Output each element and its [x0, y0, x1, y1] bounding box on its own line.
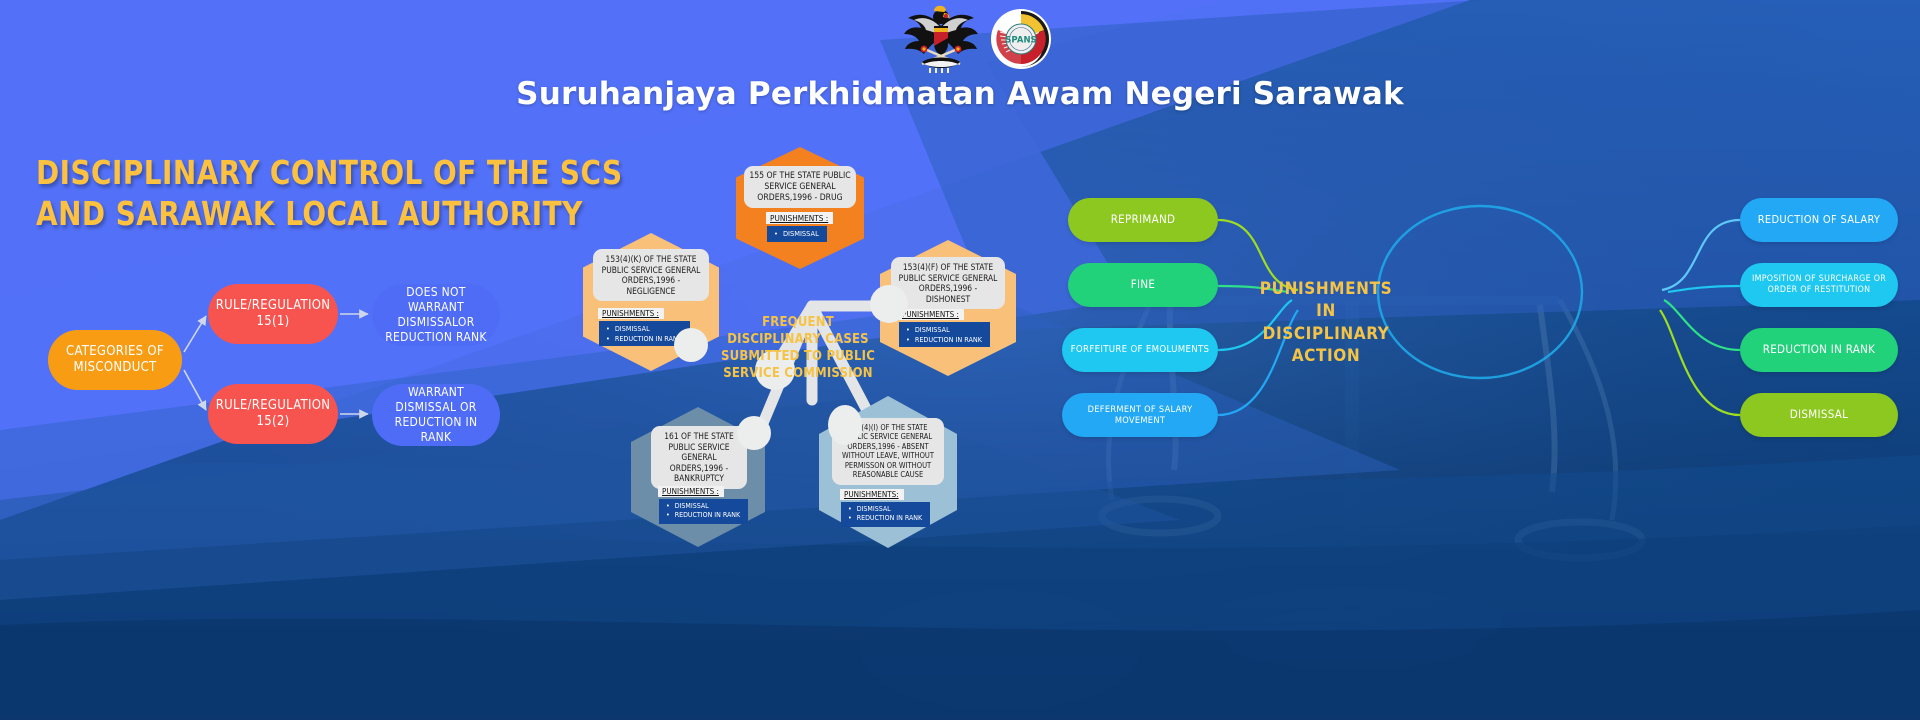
hex-case-title: 161 OF THE STATE PUBLIC SERVICE GENERAL …: [651, 426, 747, 489]
punishments-list: DISMISSALREDUCTION IN RANK: [841, 502, 930, 527]
flow-node-rule-15-1[interactable]: RULE/REGULATION 15(1): [208, 284, 338, 344]
punishment-item: REDUCTION IN RANK: [606, 334, 682, 344]
punishment-pill-forfeiture-of-emoluments[interactable]: FORFEITURE OF EMOLUMENTS: [1062, 328, 1218, 372]
flow-node-label: RULE/REGULATION 15(1): [208, 298, 338, 330]
punishments-list: DISMISSALREDUCTION IN RANK: [659, 499, 748, 524]
section-title-disciplinary-control: DISCIPLINARY CONTROL OF THE SCS AND SARA…: [36, 152, 638, 235]
sarawak-coat-of-arms-icon: [900, 4, 982, 74]
punishments-items: DISMISSALREDUCTION IN RANK: [906, 325, 982, 344]
flow-node-label: DOES NOT WARRANT DISMISSALOR REDUCTION R…: [380, 285, 492, 345]
hex-case-title: 153(4)(F) OF THE STATE PUBLIC SERVICE GE…: [891, 257, 1005, 309]
pill-label: REDUCTION OF SALARY: [1758, 213, 1881, 226]
flow-node-categories-of-misconduct[interactable]: CATEGORIES OF MISCONDUCT: [48, 330, 182, 390]
pill-label: FINE: [1131, 278, 1155, 292]
punishment-pill-reduction-of-salary[interactable]: REDUCTION OF SALARY: [1740, 198, 1898, 242]
header: SPANS Suruhanjaya Perkhidmatan Awam Nege…: [0, 0, 1920, 135]
flow-node-rule-15-2[interactable]: RULE/REGULATION 15(2): [208, 384, 338, 444]
hex-joint-absent: [828, 405, 862, 445]
hex-joint-negligence: [674, 328, 708, 362]
pill-label: DEFERMENT OF SALARY MOVEMENT: [1070, 404, 1210, 426]
punishment-pill-deferment-of-salary-movement[interactable]: DEFERMENT OF SALARY MOVEMENT: [1062, 393, 1218, 437]
punishments-items: DISMISSALREDUCTION IN RANK: [606, 324, 682, 343]
punishment-item: REDUCTION IN RANK: [906, 335, 982, 345]
spans-logo-text: SPANS: [1005, 36, 1036, 46]
punishments-label: PUNISHMENTS:: [840, 489, 904, 500]
punishments-label: PUNISHMENTS :: [766, 212, 833, 224]
punishment-item: DISMISSAL: [848, 505, 922, 514]
flow-node-label: WARRANT DISMISSAL OR REDUCTION IN RANK: [380, 385, 492, 445]
pill-label: IMPOSITION OF SURCHARGE OR ORDER OF REST…: [1748, 274, 1890, 295]
spans-logo-icon: SPANS: [990, 8, 1052, 70]
center-cluster-label: FREQUENT DISCIPLINARY CASES SUBMITTED TO…: [718, 315, 878, 383]
flow-node-outcome-warrant-dismissal[interactable]: WARRANT DISMISSAL OR REDUCTION IN RANK: [372, 384, 500, 446]
flow-node-label: RULE/REGULATION 15(2): [208, 398, 338, 430]
punishments-label: PUNISHMENTS :: [658, 486, 724, 497]
punishment-item: DISMISSAL: [774, 229, 819, 239]
hex-joint-bankruptcy: [737, 416, 771, 450]
punishment-item: REDUCTION IN RANK: [666, 511, 740, 520]
punishments-center-title: PUNISHMENTS IN DISCIPLINARY ACTION: [1236, 278, 1416, 368]
punishment-pill-reprimand[interactable]: REPRIMAND: [1068, 198, 1218, 242]
hex-case-title: 155 OF THE STATE PUBLIC SERVICE GENERAL …: [744, 166, 856, 208]
pill-label: REDUCTION IN RANK: [1763, 343, 1876, 357]
punishments-center-title-line-3: DISCIPLINARY: [1236, 323, 1416, 345]
punishments-list: DISMISSAL: [767, 226, 827, 242]
section-title-line-1: DISCIPLINARY CONTROL OF THE SCS: [36, 152, 638, 193]
hex-case-drug[interactable]: 155 OF THE STATE PUBLIC SERVICE GENERAL …: [736, 147, 864, 269]
punishments-label: PUNISHMENTS :: [898, 309, 964, 320]
punishment-pill-reduction-in-rank[interactable]: REDUCTION IN RANK: [1740, 328, 1898, 372]
punishment-item: DISMISSAL: [666, 502, 740, 511]
flow-node-label: CATEGORIES OF MISCONDUCT: [54, 344, 176, 376]
punishment-pill-fine[interactable]: FINE: [1068, 263, 1218, 307]
punishments-items: DISMISSALREDUCTION IN RANK: [666, 502, 740, 521]
punishment-item: DISMISSAL: [906, 325, 982, 335]
punishments-items: DISMISSALREDUCTION IN RANK: [848, 505, 922, 524]
punishment-item: DISMISSAL: [606, 324, 682, 334]
flow-node-outcome-no-dismissal[interactable]: DOES NOT WARRANT DISMISSALOR REDUCTION R…: [372, 284, 500, 346]
punishments-items: DISMISSAL: [774, 229, 819, 239]
punishments-center-title-line-2: IN: [1236, 300, 1416, 322]
pill-label: REPRIMAND: [1111, 213, 1176, 227]
punishments-center-title-line-1: PUNISHMENTS: [1236, 278, 1416, 300]
section-title-line-2: AND SARAWAK LOCAL AUTHORITY: [36, 193, 638, 234]
page-title: Suruhanjaya Perkhidmatan Awam Negeri Sar…: [0, 76, 1920, 112]
punishments-diagram: REPRIMAND FINE FORFEITURE OF EMOLUMENTS …: [1040, 150, 1920, 630]
punishment-pill-dismissal[interactable]: DISMISSAL: [1740, 393, 1898, 437]
center-cluster-label-text: FREQUENT DISCIPLINARY CASES SUBMITTED TO…: [721, 315, 875, 381]
punishments-label: PUNISHMENTS :: [598, 308, 664, 319]
punishments-list: DISMISSALREDUCTION IN RANK: [899, 322, 990, 347]
pill-label: FORFEITURE OF EMOLUMENTS: [1071, 344, 1210, 356]
punishment-pill-imposition-of-surcharge[interactable]: IMPOSITION OF SURCHARGE OR ORDER OF REST…: [1740, 263, 1898, 307]
logo-group: SPANS: [900, 4, 1090, 74]
punishment-item: REDUCTION IN RANK: [848, 514, 922, 523]
punishments-center-title-line-4: ACTION: [1236, 345, 1416, 367]
pill-label: DISMISSAL: [1790, 408, 1848, 422]
hex-case-title: 153(4)(K) OF THE STATE PUBLIC SERVICE GE…: [593, 249, 709, 301]
